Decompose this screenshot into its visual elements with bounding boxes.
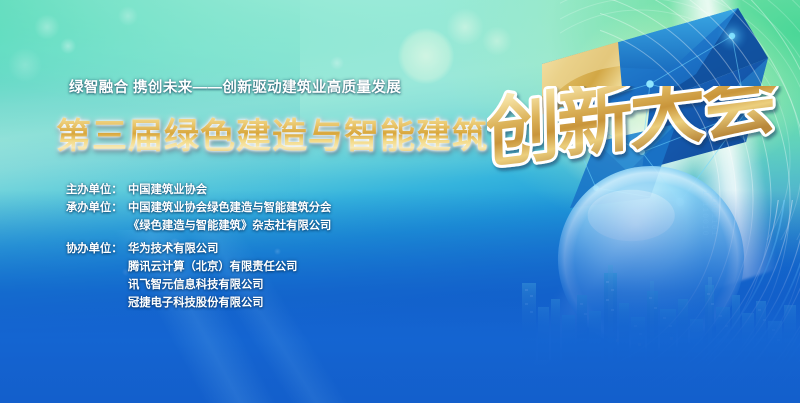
- svg-text:创新大会: 创新大会: [487, 86, 778, 179]
- organizer-row: 冠捷电子科技股份有限公司: [66, 294, 331, 312]
- organizer-row: 腾讯云计算（北京）有限责任公司: [66, 258, 331, 276]
- organizer-block: 主办单位： 中国建筑业协会 承办单位： 中国建筑业协会绿色建造与智能建筑分会 《…: [66, 181, 331, 312]
- organizer-value: 中国建筑业协会: [128, 181, 207, 199]
- page-title: 第三届绿色建造与智能建筑: [56, 108, 488, 159]
- organizer-label: 协办单位：: [66, 240, 128, 258]
- organizer-label-spacer: [66, 276, 128, 294]
- organizer-value: 华为技术有限公司: [128, 240, 218, 258]
- conference-banner: 0100110110110010: [0, 0, 800, 403]
- organizer-value: 中国建筑业协会绿色建造与智能建筑分会: [128, 199, 331, 217]
- organizer-label: 主办单位：: [66, 181, 128, 199]
- organizer-row: 主办单位： 中国建筑业协会: [66, 181, 331, 199]
- organizer-label-spacer: [66, 294, 128, 312]
- organizer-value: 腾讯云计算（北京）有限责任公司: [128, 258, 297, 276]
- organizer-label-spacer: [66, 217, 128, 235]
- organizer-row: 讯飞智元信息科技有限公司: [66, 276, 331, 294]
- organizer-value: 冠捷电子科技股份有限公司: [128, 294, 264, 312]
- organizer-value: 讯飞智元信息科技有限公司: [128, 276, 264, 294]
- organizer-row: 协办单位： 华为技术有限公司: [66, 240, 331, 258]
- organizer-label: 承办单位：: [66, 199, 128, 217]
- organizer-row: 《绿色建造与智能建筑》杂志社有限公司: [66, 217, 331, 235]
- organizer-row: 承办单位： 中国建筑业协会绿色建造与智能建筑分会: [66, 199, 331, 217]
- organizer-label-spacer: [66, 258, 128, 276]
- organizer-value: 《绿色建造与智能建筑》杂志社有限公司: [128, 217, 331, 235]
- calligraphy-title-innovation-conference: 创新大会 创新大会: [487, 86, 787, 186]
- banner-tagline: 绿智融合 携创未来——创新驱动建筑业高质量发展: [69, 76, 401, 97]
